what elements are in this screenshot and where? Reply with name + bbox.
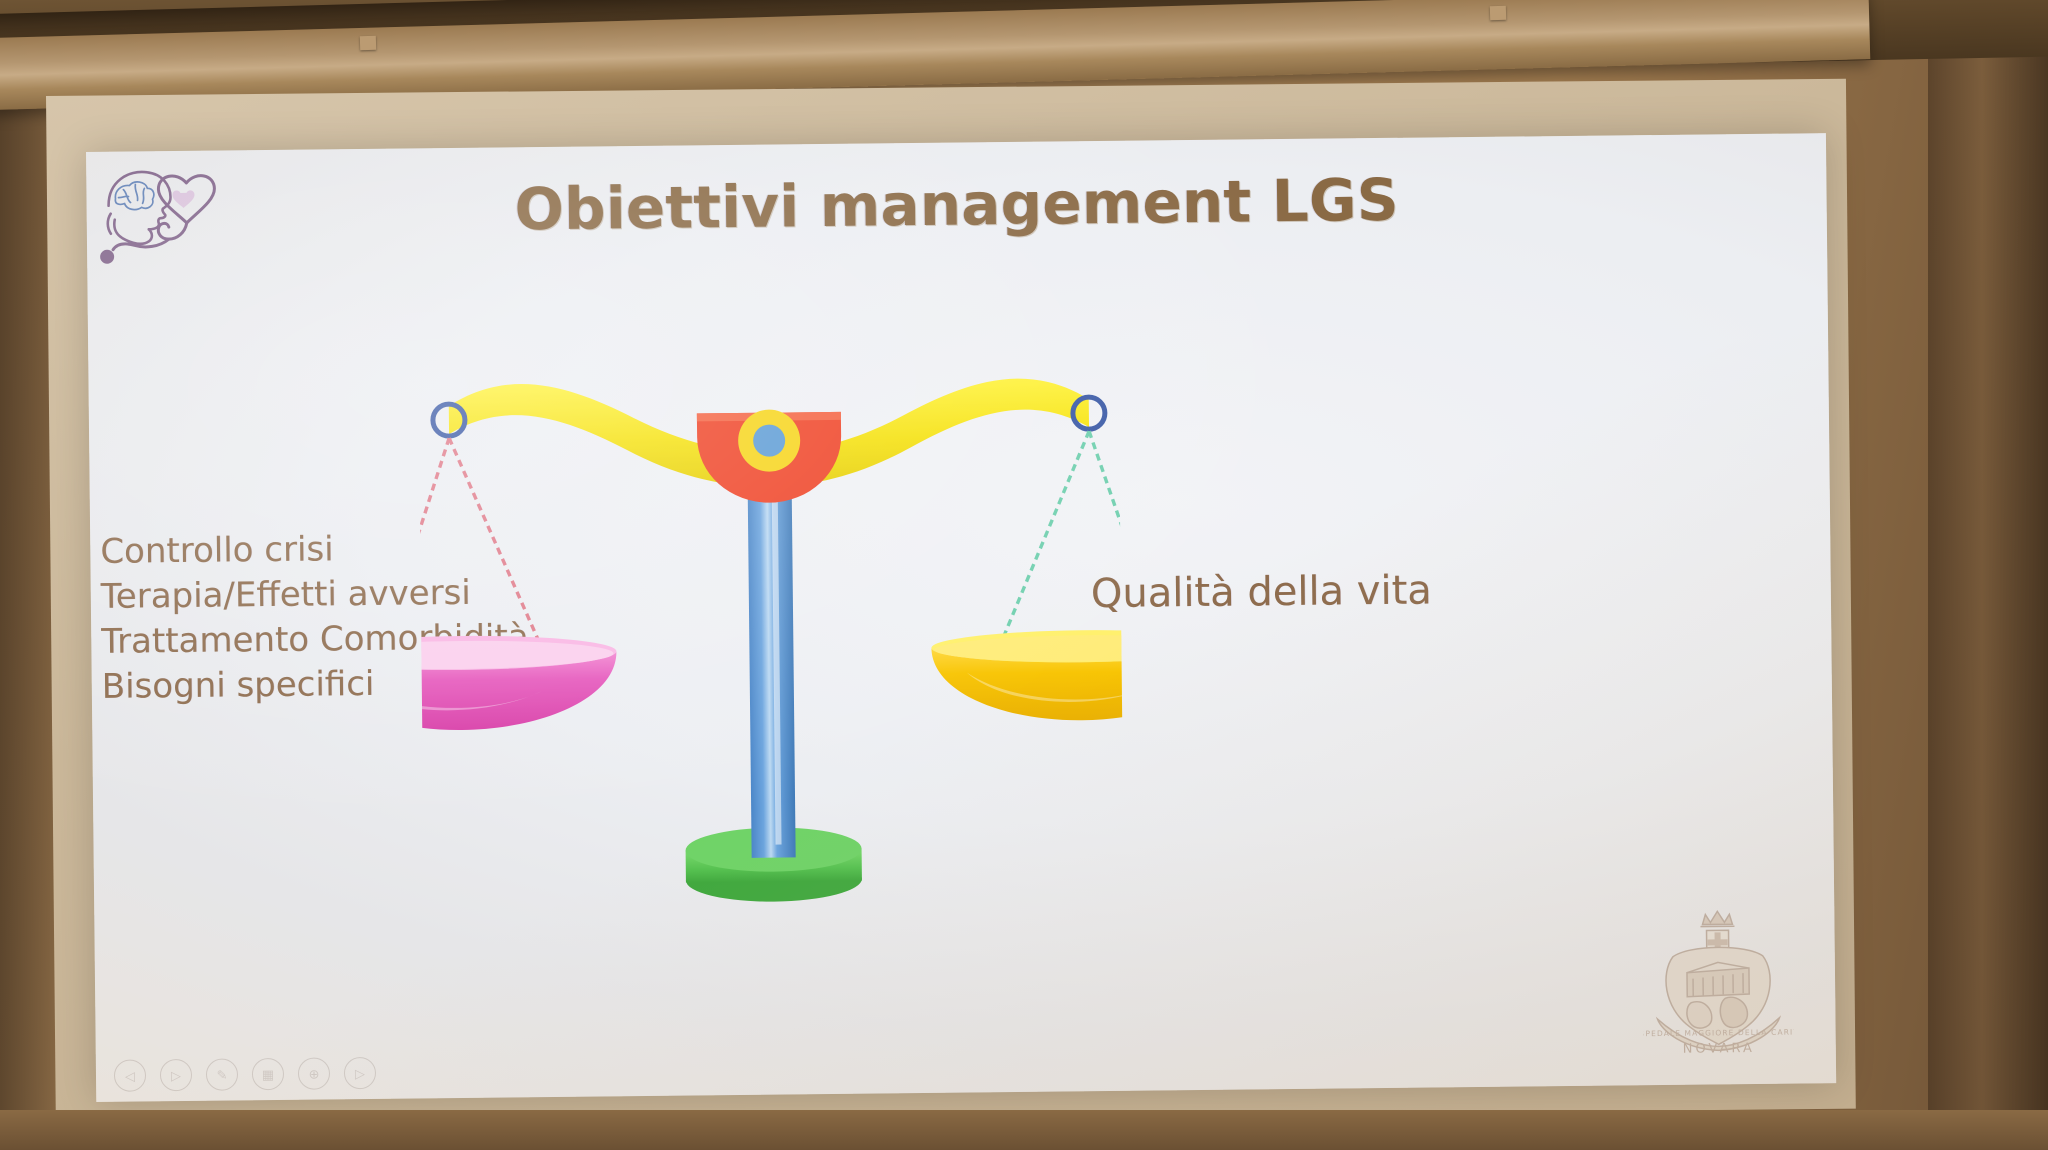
scale-column [747, 459, 795, 857]
floor-band [0, 1110, 2048, 1150]
photographed-projection-scene: Obiettivi management LGS Controllo crisi… [0, 0, 2048, 1150]
page-title: Obiettivi management LGS [86, 161, 1827, 248]
left-chains [418, 437, 541, 649]
crest-motto-text: OSPEDALE MAGGIORE DELLA CARITÀ [1642, 1027, 1794, 1038]
hospital-crest: OSPEDALE MAGGIORE DELLA CARITÀ NOVARA [1642, 898, 1794, 1060]
screen-bracket-right [1490, 6, 1506, 20]
crest-city-text: NOVARA [1644, 1041, 1794, 1058]
scale-hub [697, 409, 842, 504]
wall-right-shadow [1928, 0, 2048, 1150]
slide-menu-button[interactable]: ▦ [252, 1058, 284, 1090]
presentation-controls[interactable]: ◁ ▷ ✎ ▦ ⊕ ▷ [114, 1057, 376, 1092]
left-pan [418, 634, 617, 731]
quality-of-life-label: Qualità della vita [1091, 567, 1432, 617]
right-pan [931, 629, 1124, 722]
screen-bracket-left [360, 36, 376, 50]
pen-tool-button[interactable]: ✎ [206, 1058, 238, 1090]
balance-scale-graphic [418, 341, 1124, 949]
zoom-button[interactable]: ⊕ [298, 1057, 330, 1089]
projected-slide: Obiettivi management LGS Controllo crisi… [86, 133, 1836, 1102]
next-slide-button[interactable]: ▷ [160, 1059, 192, 1091]
right-chains [999, 430, 1125, 642]
more-options-button[interactable]: ▷ [344, 1057, 376, 1089]
previous-slide-button[interactable]: ◁ [114, 1059, 146, 1091]
